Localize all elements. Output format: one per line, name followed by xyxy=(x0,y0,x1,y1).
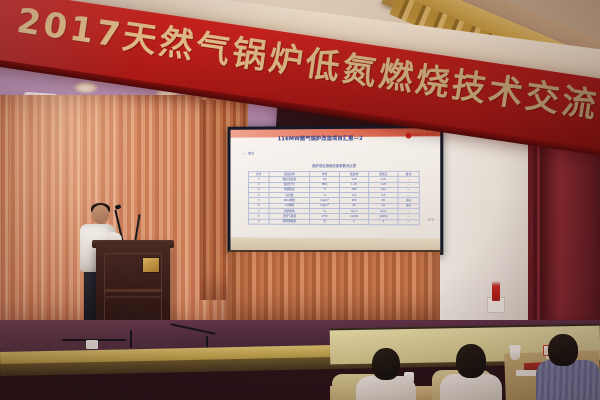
audience-member xyxy=(536,326,600,400)
table-cell: 2 xyxy=(340,219,369,224)
slide-subnote: 一、概况 xyxy=(242,151,254,155)
table-cell: 9 xyxy=(249,219,270,224)
slide-logo-text: 低氮燃烧\n技术中心 xyxy=(412,134,436,137)
audience-head xyxy=(372,348,400,380)
table-cell: 燃烧器数量 xyxy=(269,219,310,224)
table-row: 9燃烧器数量台22— xyxy=(249,219,420,225)
slide-table-caption: 锅炉低氮燃烧改造参数对比表 xyxy=(230,163,440,169)
podium-trim xyxy=(104,296,162,298)
teacup-lid xyxy=(509,345,521,349)
podium-emblem-icon xyxy=(142,257,160,273)
audience-member xyxy=(440,338,502,400)
slide-data-table: 序号项目名称单位改造前改造后备注 1额定蒸发量t/h116116—2额定压力MP… xyxy=(248,171,420,225)
table-cell: — xyxy=(398,219,419,224)
audience-head xyxy=(548,334,578,366)
downlight-icon xyxy=(74,82,98,93)
projection-screen: 116MW燃气锅炉改造项目汇报—2 低氮燃烧\n技术中心 一、概况 锅炉低氮燃烧… xyxy=(230,128,440,238)
slide-logo-mark-icon xyxy=(405,132,411,138)
podium-trim xyxy=(104,289,162,292)
table-cell: 台 xyxy=(310,219,340,224)
floor-cable xyxy=(130,330,132,348)
audience-head xyxy=(456,344,486,378)
table-cell: 2 xyxy=(369,219,398,224)
projection-screen-frame: 116MW燃气锅炉改造项目汇报—2 低氮燃烧\n技术中心 一、概况 锅炉低氮燃烧… xyxy=(228,125,444,255)
teacup xyxy=(510,348,520,360)
stage-curtain-below-screen xyxy=(228,252,440,328)
slide-page-tag: 第3页 xyxy=(428,217,434,221)
conference-hall-photo: 116MW燃气锅炉改造项目汇报—2 低氮燃烧\n技术中心 一、概况 锅炉低氮燃烧… xyxy=(0,0,600,400)
slide-title: 116MW燃气锅炉改造项目汇报—2 xyxy=(246,135,395,143)
slide-logo: 低氮燃烧\n技术中心 xyxy=(405,132,436,138)
fire-extinguisher-icon xyxy=(492,281,500,301)
audience-shoulders xyxy=(536,360,600,400)
audience-member xyxy=(356,342,416,400)
floor-connector-box xyxy=(86,340,98,349)
